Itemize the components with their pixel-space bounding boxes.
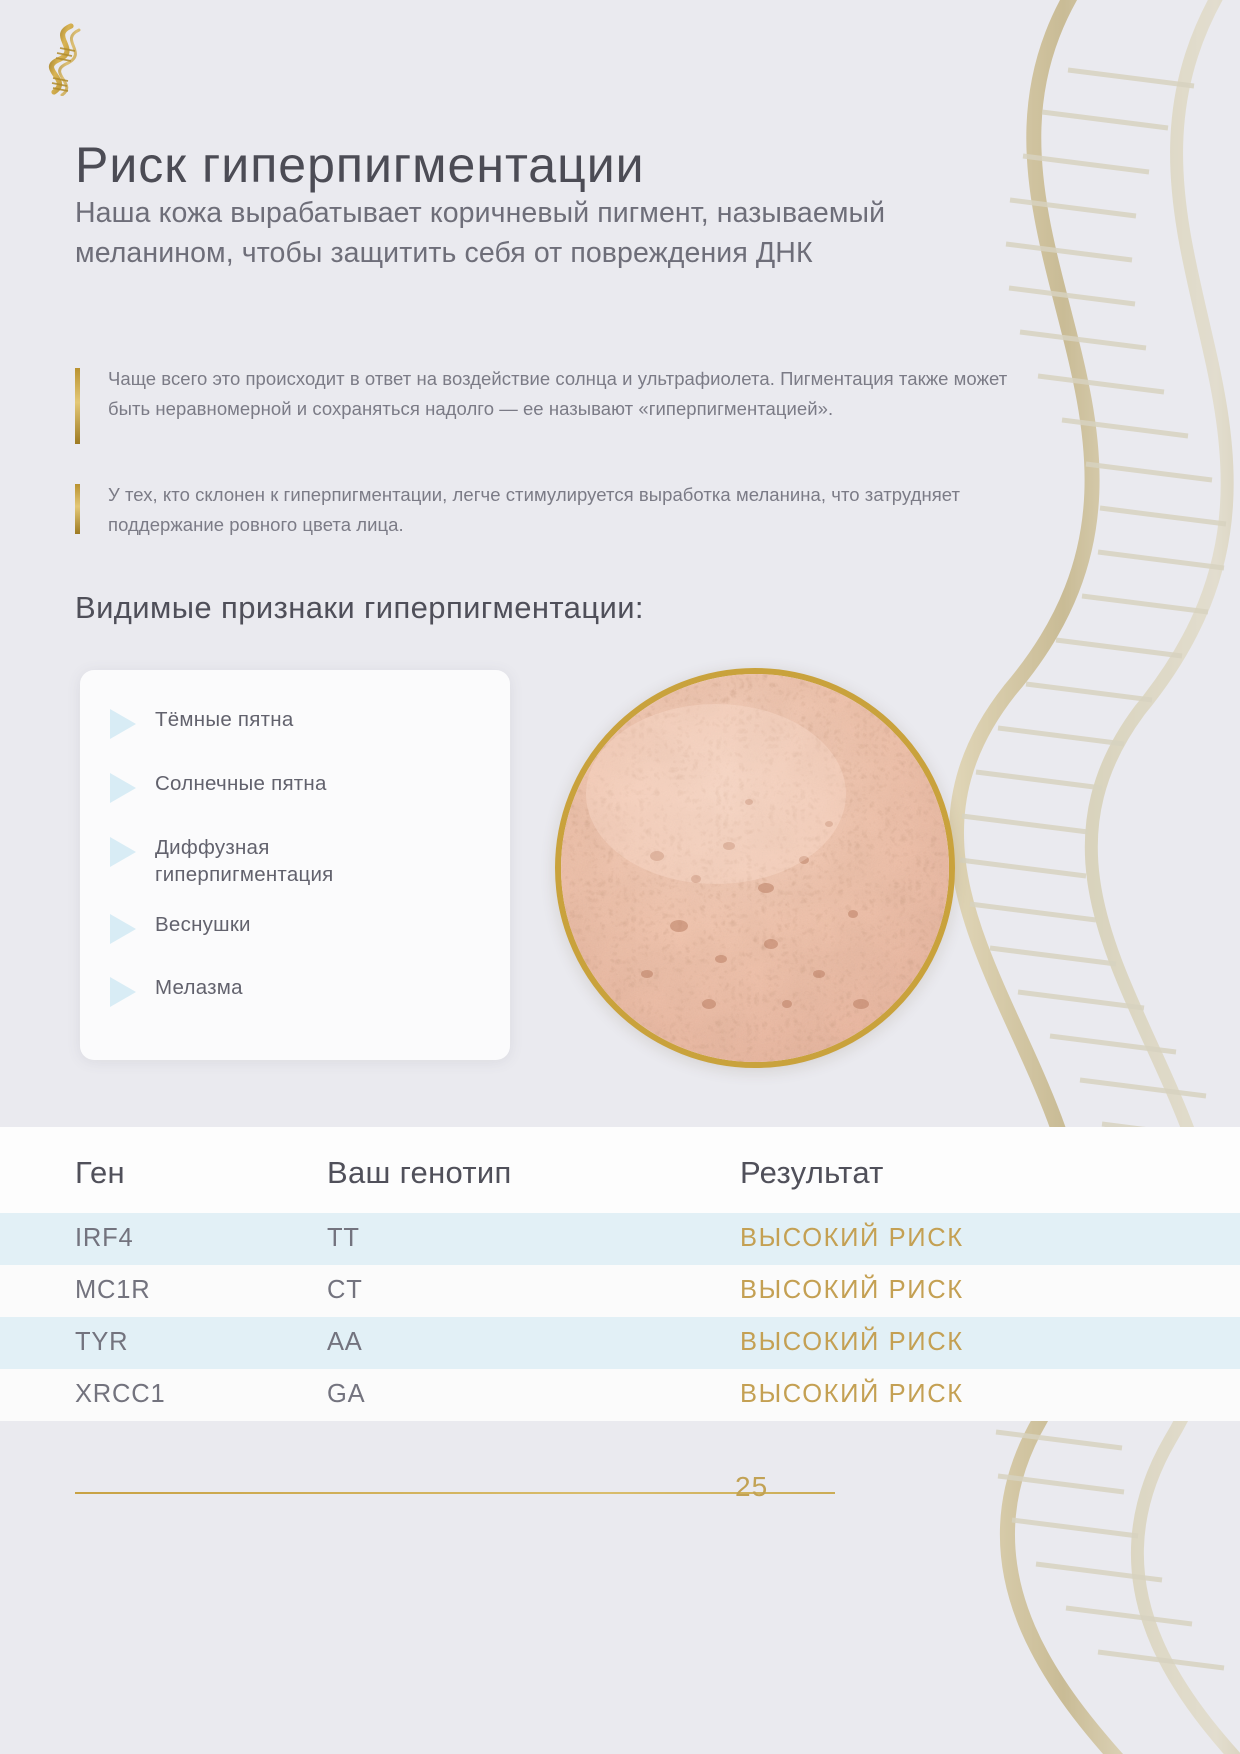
list-item-label: Веснушки [155, 911, 251, 938]
list-item-label: Солнечные пятна [155, 770, 327, 797]
page-title: Риск гиперпигментации [75, 138, 645, 193]
cell-result: ВЫСОКИЙ РИСК [720, 1369, 1240, 1421]
triangle-right-icon [110, 837, 136, 867]
cell-gene: MC1R [0, 1265, 315, 1317]
cell-result: ВЫСОКИЙ РИСК [720, 1213, 1240, 1265]
gene-results-table: Ген Ваш генотип Результат IRF4 TT ВЫСОКИ… [0, 1127, 1240, 1421]
table-row: XRCC1 GA ВЫСОКИЙ РИСК [0, 1369, 1240, 1421]
list-item: Тёмные пятна [110, 706, 510, 739]
gold-accent-bar [75, 368, 80, 444]
callout-text: У тех, кто склонен к гиперпигментации, л… [108, 480, 1038, 539]
table-row: MC1R CT ВЫСОКИЙ РИСК [0, 1265, 1240, 1317]
column-header-gene: Ген [0, 1127, 315, 1213]
table-row: TYR AA ВЫСОКИЙ РИСК [0, 1317, 1240, 1369]
cell-gene: TYR [0, 1317, 315, 1369]
table-header-row: Ген Ваш генотип Результат [0, 1127, 1240, 1213]
callout-text: Чаще всего это происходит в ответ на воз… [108, 364, 1038, 423]
page-number: 25 [735, 1471, 768, 1503]
column-header-result: Результат [720, 1127, 1240, 1213]
gold-accent-bar [75, 484, 80, 534]
list-item: Диффузная гиперпигментация [110, 834, 510, 889]
triangle-right-icon [110, 977, 136, 1007]
triangle-right-icon [110, 773, 136, 803]
dna-helix-icon [38, 22, 92, 96]
visible-signs-card: Тёмные пятна Солнечные пятна Диффузная г… [80, 670, 510, 1060]
cell-gene: IRF4 [0, 1213, 315, 1265]
column-header-genotype: Ваш генотип [315, 1127, 720, 1213]
list-item-label: Мелазма [155, 974, 243, 1001]
cell-genotype: TT [315, 1213, 720, 1265]
triangle-right-icon [110, 914, 136, 944]
cell-result: ВЫСОКИЙ РИСК [720, 1265, 1240, 1317]
list-item: Солнечные пятна [110, 770, 510, 803]
list-item-label: Диффузная гиперпигментация [155, 834, 405, 889]
cell-result: ВЫСОКИЙ РИСК [720, 1317, 1240, 1369]
cell-genotype: GA [315, 1369, 720, 1421]
footer-divider [75, 1492, 835, 1494]
page-subtitle: Наша кожа вырабатывает коричневый пигмен… [75, 193, 955, 274]
list-item: Мелазма [110, 974, 510, 1007]
triangle-right-icon [110, 709, 136, 739]
info-callout-2: У тех, кто склонен к гиперпигментации, л… [75, 480, 1038, 539]
section-heading-visible-signs: Видимые признаки гиперпигментации: [75, 590, 644, 626]
info-callout-1: Чаще всего это происходит в ответ на воз… [75, 364, 1038, 423]
cell-gene: XRCC1 [0, 1369, 315, 1421]
list-item-label: Тёмные пятна [155, 706, 293, 733]
cell-genotype: AA [315, 1317, 720, 1369]
list-item: Веснушки [110, 911, 510, 944]
cell-genotype: CT [315, 1265, 720, 1317]
table-row: IRF4 TT ВЫСОКИЙ РИСК [0, 1213, 1240, 1265]
skin-hyperpigmentation-photo [555, 668, 955, 1068]
